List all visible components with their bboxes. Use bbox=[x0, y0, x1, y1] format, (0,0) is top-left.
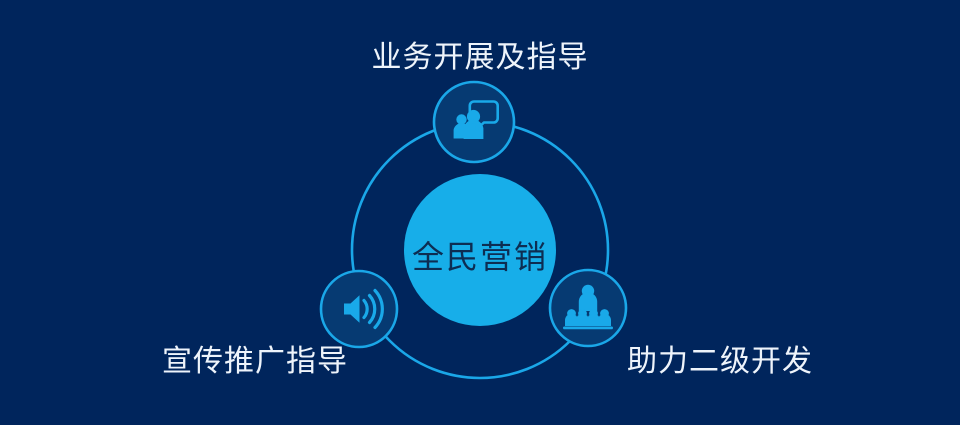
diagram-canvas: 全民营销 业务开展及指导 宣传推广指导 助力二级开发 bbox=[0, 0, 960, 425]
node-bottom-right-label: 助力二级开发 bbox=[627, 336, 813, 380]
node-top-label: 业务开展及指导 bbox=[0, 32, 960, 76]
node-top[interactable] bbox=[434, 82, 514, 162]
node-bottom-left-label: 宣传推广指导 bbox=[162, 336, 348, 380]
node-bottom-right[interactable] bbox=[550, 270, 626, 346]
center-hub-label: 全民营销 bbox=[405, 232, 555, 278]
